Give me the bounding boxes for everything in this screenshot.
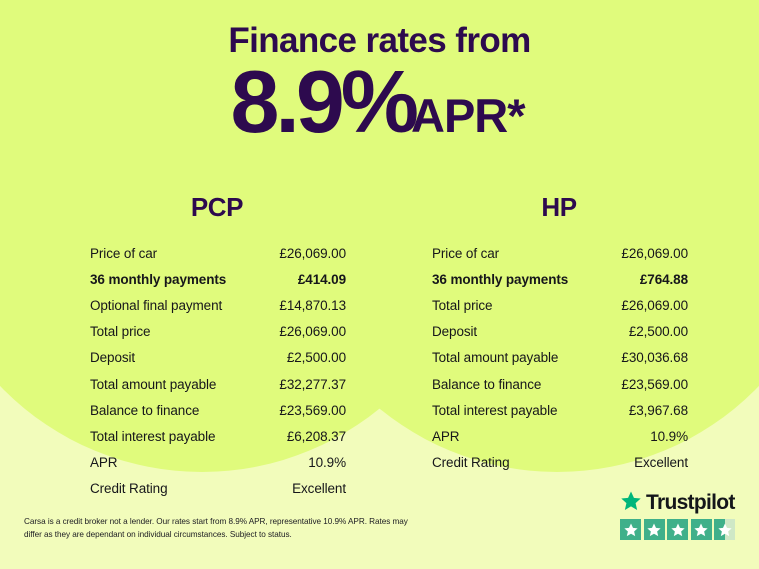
table-row: Total interest payable£3,967.68 xyxy=(421,397,697,423)
finance-rates-poster: Finance rates from 8.9%APR* PCP Price of… xyxy=(0,0,759,569)
row-label: Total price xyxy=(432,298,492,313)
table-row: Credit RatingExcellent xyxy=(79,476,355,502)
row-label: Price of car xyxy=(432,246,499,261)
trustpilot-half-star-icon xyxy=(714,519,735,540)
row-label: Total interest payable xyxy=(90,429,215,444)
table-row: Balance to finance£23,569.00 xyxy=(79,397,355,423)
row-value: Excellent xyxy=(634,455,688,470)
row-value: £2,500.00 xyxy=(629,324,688,339)
row-label: APR xyxy=(90,455,117,470)
row-label: Balance to finance xyxy=(432,377,541,392)
trustpilot-rating[interactable]: Trustpilot xyxy=(620,491,741,540)
table-row: APR10.9% xyxy=(421,423,697,449)
row-value: £3,967.68 xyxy=(629,403,688,418)
table-row: Total price£26,069.00 xyxy=(421,292,697,318)
row-label: Credit Rating xyxy=(432,455,510,470)
row-value: £26,069.00 xyxy=(279,324,346,339)
trustpilot-stars xyxy=(620,519,741,540)
rate-number: 8.9% xyxy=(230,52,415,151)
row-value: £414.09 xyxy=(298,272,346,287)
trustpilot-full-star-icon xyxy=(620,519,641,540)
disclaimer-text: Carsa is a credit broker not a lender. O… xyxy=(24,516,424,541)
row-value: £6,208.37 xyxy=(287,429,346,444)
row-label: APR xyxy=(432,429,459,444)
table-row: Total interest payable£6,208.37 xyxy=(79,423,355,449)
row-value: £26,069.00 xyxy=(621,298,688,313)
finance-column-pcp: PCP Price of car£26,069.0036 monthly pay… xyxy=(79,192,355,502)
row-value: £26,069.00 xyxy=(621,246,688,261)
table-row: Deposit£2,500.00 xyxy=(421,319,697,345)
rows-pcp: Price of car£26,069.0036 monthly payment… xyxy=(79,240,355,502)
table-row: Price of car£26,069.00 xyxy=(421,240,697,266)
row-value: £2,500.00 xyxy=(287,350,346,365)
poster-content: Finance rates from 8.9%APR* PCP Price of… xyxy=(0,0,759,569)
table-row: Price of car£26,069.00 xyxy=(79,240,355,266)
headline-rate: 8.9%APR* xyxy=(0,58,759,146)
row-label: 36 monthly payments xyxy=(90,272,226,287)
trustpilot-full-star-icon xyxy=(644,519,665,540)
row-value: 10.9% xyxy=(308,455,346,470)
finance-column-hp: HP Price of car£26,069.0036 monthly paym… xyxy=(421,192,697,476)
row-value: £30,036.68 xyxy=(621,350,688,365)
row-label: Total amount payable xyxy=(90,377,216,392)
trustpilot-full-star-icon xyxy=(667,519,688,540)
table-row: Total price£26,069.00 xyxy=(79,319,355,345)
row-value: £32,277.37 xyxy=(279,377,346,392)
table-row: Credit RatingExcellent xyxy=(421,450,697,476)
trustpilot-full-star-icon xyxy=(691,519,712,540)
row-value: Excellent xyxy=(292,481,346,496)
row-label: Total price xyxy=(90,324,150,339)
table-row: 36 monthly payments£764.88 xyxy=(421,266,697,292)
row-label: Price of car xyxy=(90,246,157,261)
column-title-hp: HP xyxy=(421,192,697,223)
table-row: Deposit£2,500.00 xyxy=(79,345,355,371)
rate-suffix: APR* xyxy=(411,89,525,142)
table-row: Optional final payment£14,870.13 xyxy=(79,292,355,318)
row-value: 10.9% xyxy=(650,429,688,444)
row-label: Optional final payment xyxy=(90,298,222,313)
row-label: Deposit xyxy=(432,324,477,339)
row-value: £14,870.13 xyxy=(279,298,346,313)
row-label: Credit Rating xyxy=(90,481,168,496)
table-row: Balance to finance£23,569.00 xyxy=(421,371,697,397)
row-label: Total amount payable xyxy=(432,350,558,365)
trustpilot-label: Trustpilot xyxy=(646,491,735,515)
row-value: £764.88 xyxy=(640,272,688,287)
trustpilot-star-icon xyxy=(620,490,642,517)
table-row: Total amount payable£32,277.37 xyxy=(79,371,355,397)
table-row: Total amount payable£30,036.68 xyxy=(421,345,697,371)
trustpilot-wordmark: Trustpilot xyxy=(620,491,741,515)
row-value: £26,069.00 xyxy=(279,246,346,261)
table-row: APR10.9% xyxy=(79,450,355,476)
row-label: 36 monthly payments xyxy=(432,272,568,287)
column-title-pcp: PCP xyxy=(79,192,355,223)
row-label: Balance to finance xyxy=(90,403,199,418)
row-label: Deposit xyxy=(90,350,135,365)
row-value: £23,569.00 xyxy=(279,403,346,418)
table-row: 36 monthly payments£414.09 xyxy=(79,266,355,292)
row-label: Total interest payable xyxy=(432,403,557,418)
row-value: £23,569.00 xyxy=(621,377,688,392)
rows-hp: Price of car£26,069.0036 monthly payment… xyxy=(421,240,697,476)
